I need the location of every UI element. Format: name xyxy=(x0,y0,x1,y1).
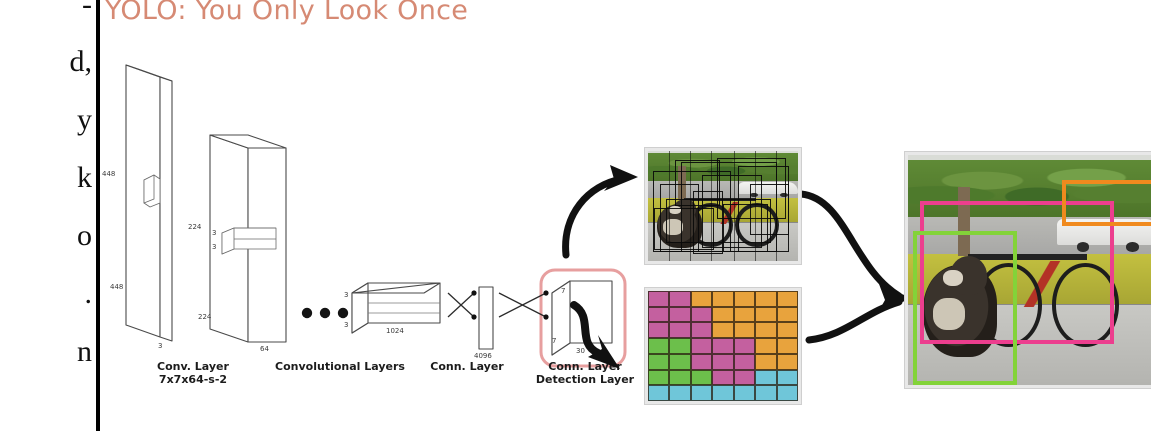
caption-conv-layer: Conv. Layer 7x7x64-s-2 xyxy=(138,361,248,386)
text-fragment: d, xyxy=(70,47,93,77)
class-probability-map-panel xyxy=(645,288,801,404)
probability-grid xyxy=(648,291,798,401)
document-text-column: - d, y k o . n xyxy=(0,0,96,431)
probability-cell xyxy=(648,385,669,401)
yolo-figure-panel: YOLO: You Only Look Once xyxy=(100,0,1151,431)
dim-second-width: 224 xyxy=(198,313,211,321)
figure-root: - d, y k o . n YOLO: You Only Look Once xyxy=(0,0,1151,431)
probability-cell xyxy=(777,354,798,370)
detection-box-overlay xyxy=(648,151,798,261)
probability-cell xyxy=(712,370,733,386)
probability-cell xyxy=(777,291,798,307)
probability-cell xyxy=(691,338,712,354)
probability-cell xyxy=(755,322,776,338)
probability-cell xyxy=(691,291,712,307)
probability-cell xyxy=(669,370,690,386)
probability-cell xyxy=(734,385,755,401)
probability-cell xyxy=(712,322,733,338)
probability-cell xyxy=(691,307,712,323)
probability-cell xyxy=(712,338,733,354)
probability-cell xyxy=(734,291,755,307)
dim-kernel-3: 3 xyxy=(212,229,216,237)
probability-cell xyxy=(712,354,733,370)
arrow-merge-to-final xyxy=(795,180,913,345)
text-fragment: o xyxy=(77,221,92,251)
probability-cell xyxy=(648,307,669,323)
probability-cell xyxy=(648,322,669,338)
probability-cell xyxy=(669,338,690,354)
probability-cell xyxy=(755,307,776,323)
figure-title: YOLO: You Only Look Once xyxy=(105,0,468,26)
dim-out-7b: 7 xyxy=(552,337,556,345)
probability-cell xyxy=(734,354,755,370)
probability-cell xyxy=(691,370,712,386)
dim-input-height: 448 xyxy=(102,170,115,178)
probability-cell xyxy=(669,385,690,401)
probability-cell xyxy=(691,385,712,401)
dim-second-depth: 64 xyxy=(260,345,269,353)
probability-cell xyxy=(734,322,755,338)
probability-cell xyxy=(669,291,690,307)
caption-conv-layers: Convolutional Layers xyxy=(265,361,415,374)
dim-kernel-3b: 3 xyxy=(212,243,216,251)
probability-cell xyxy=(648,291,669,307)
dim-input-width: 448 xyxy=(110,283,123,291)
probability-cell xyxy=(669,307,690,323)
bbox-car xyxy=(1062,180,1151,226)
probability-cell xyxy=(669,354,690,370)
probability-cell xyxy=(755,385,776,401)
text-fragment: n xyxy=(77,337,92,367)
dim-conv-depth: 1024 xyxy=(386,327,404,335)
probability-cell xyxy=(648,338,669,354)
dim-conv-3b: 3 xyxy=(344,321,348,329)
ellipsis-dots xyxy=(302,308,348,318)
probability-cell xyxy=(712,385,733,401)
probability-cell xyxy=(734,370,755,386)
probability-cell xyxy=(691,354,712,370)
text-fragment: - xyxy=(82,0,92,20)
probability-cell xyxy=(755,354,776,370)
probability-cell xyxy=(734,338,755,354)
text-fragment: y xyxy=(77,105,92,135)
arrow-to-bounding-boxes xyxy=(552,155,652,265)
probability-cell xyxy=(734,307,755,323)
dim-fc-size: 4096 xyxy=(474,352,492,360)
probability-cell xyxy=(648,354,669,370)
dim-second-height: 224 xyxy=(188,223,201,231)
probability-cell xyxy=(777,322,798,338)
dim-input-depth: 3 xyxy=(158,342,162,350)
probability-cell xyxy=(755,370,776,386)
bounding-boxes-panel xyxy=(645,148,801,264)
probability-cell xyxy=(755,338,776,354)
caption-conn-layer: Conn. Layer xyxy=(412,361,522,374)
probability-cell xyxy=(691,322,712,338)
bbox-dog xyxy=(913,231,1017,385)
dim-conv-3: 3 xyxy=(344,291,348,299)
probability-cell xyxy=(777,338,798,354)
probability-cell xyxy=(777,370,798,386)
probability-cell xyxy=(777,307,798,323)
probability-cell xyxy=(712,307,733,323)
dim-out-7: 7 xyxy=(561,287,565,295)
final-detections-panel xyxy=(905,152,1151,388)
probability-cell xyxy=(648,370,669,386)
probability-cell xyxy=(755,291,776,307)
probability-cell xyxy=(777,385,798,401)
text-fragment: . xyxy=(85,279,93,309)
probability-cell xyxy=(669,322,690,338)
probability-cell xyxy=(712,291,733,307)
text-fragment: k xyxy=(77,163,92,193)
